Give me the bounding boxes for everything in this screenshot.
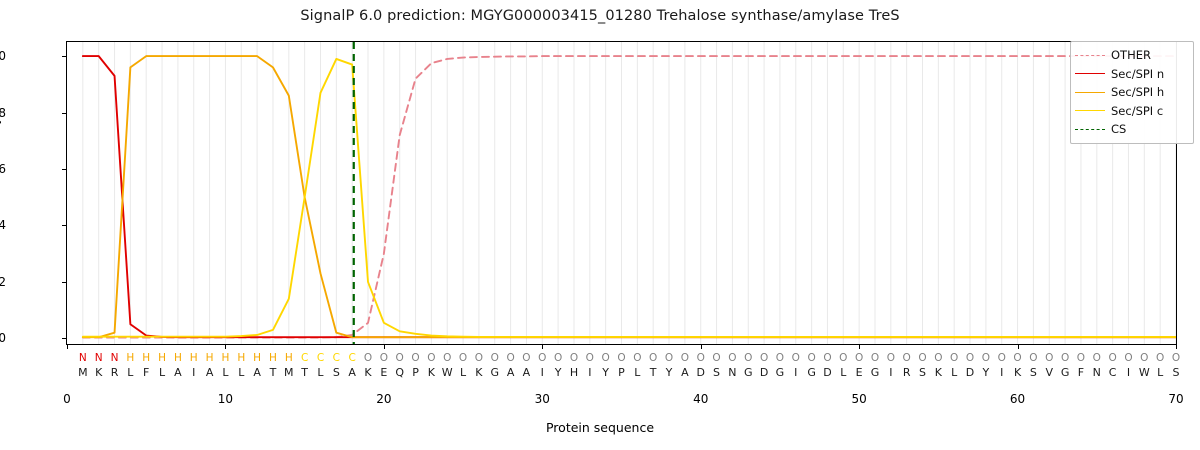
sequence-residue: L [946, 366, 962, 380]
region-label: O [930, 351, 946, 365]
region-label: O [835, 351, 851, 365]
sequence-residue: R [107, 366, 123, 380]
region-label: O [645, 351, 661, 365]
sequence-residue: G [1057, 366, 1073, 380]
sequence-residue: D [962, 366, 978, 380]
sequence-residue: L [629, 366, 645, 380]
region-label: O [661, 351, 677, 365]
region-label: O [376, 351, 392, 365]
legend-item-other: OTHER [1075, 46, 1188, 65]
region-label: O [423, 351, 439, 365]
sequence-residue: M [281, 366, 297, 380]
region-label: O [360, 351, 376, 365]
region-label: O [724, 351, 740, 365]
region-label: O [455, 351, 471, 365]
sequence-residue: D [693, 366, 709, 380]
sequence-residue: S [1168, 366, 1184, 380]
region-label: O [1089, 351, 1105, 365]
region-label: O [915, 351, 931, 365]
sequence-residue: I [1120, 366, 1136, 380]
region-label: O [677, 351, 693, 365]
sequence-residue: L [1152, 366, 1168, 380]
region-label: O [534, 351, 550, 365]
region-label: O [756, 351, 772, 365]
region-label: O [392, 351, 408, 365]
sequence-residue: H [566, 366, 582, 380]
plot-area [66, 41, 1177, 345]
region-label: H [217, 351, 233, 365]
sequence-residue: G [487, 366, 503, 380]
sequence-residue: A [344, 366, 360, 380]
plot-canvas [67, 42, 1176, 344]
region-label: H [281, 351, 297, 365]
sequence-residue: T [297, 366, 313, 380]
region-label: H [138, 351, 154, 365]
region-label: C [328, 351, 344, 365]
x-tick-mark [859, 345, 860, 349]
legend-swatch [1075, 92, 1105, 93]
region-label: C [312, 351, 328, 365]
region-label: O [471, 351, 487, 365]
signalp-prediction-figure: SignalP 6.0 prediction: MGYG000003415_01… [0, 0, 1200, 450]
sequence-residue: F [1073, 366, 1089, 380]
region-label: O [487, 351, 503, 365]
sequence-residue: P [408, 366, 424, 380]
legend-swatch [1075, 55, 1105, 56]
x-tick-mark [67, 345, 68, 349]
sequence-residue: K [423, 366, 439, 380]
x-tick-label: 30 [512, 392, 572, 406]
y-tick-label: 0.8 [0, 106, 6, 120]
legend-label: Sec/SPI n [1111, 67, 1164, 81]
sequence-residue: K [471, 366, 487, 380]
region-label: O [1073, 351, 1089, 365]
legend-label: Sec/SPI h [1111, 85, 1164, 99]
y-tick-label: 0.4 [0, 218, 6, 232]
sequence-residue: S [328, 366, 344, 380]
sequence-residue: A [503, 366, 519, 380]
region-label: H [233, 351, 249, 365]
region-label: O [1136, 351, 1152, 365]
region-label: N [75, 351, 91, 365]
sequence-residue: Y [978, 366, 994, 380]
x-tick-label: 60 [988, 392, 1048, 406]
region-label: O [1010, 351, 1026, 365]
region-label: O [503, 351, 519, 365]
region-label: O [518, 351, 534, 365]
sequence-residue: I [994, 366, 1010, 380]
sequence-residue: A [677, 366, 693, 380]
region-label: O [408, 351, 424, 365]
sequence-residue: I [883, 366, 899, 380]
sequence-residue: L [835, 366, 851, 380]
sequence-residue: P [614, 366, 630, 380]
y-tick-label: 0.0 [0, 331, 6, 345]
series-line-sec-spi-h [83, 56, 1176, 337]
x-tick-label: 40 [671, 392, 731, 406]
x-axis-label: Protein sequence [0, 420, 1200, 435]
region-label: N [91, 351, 107, 365]
region-label: H [154, 351, 170, 365]
sequence-residue: S [915, 366, 931, 380]
region-label: O [439, 351, 455, 365]
sequence-residue: A [518, 366, 534, 380]
sequence-residue: T [265, 366, 281, 380]
sequence-residue: A [249, 366, 265, 380]
sequence-residue: N [724, 366, 740, 380]
sequence-residue: K [91, 366, 107, 380]
legend-item-cs: CS [1075, 120, 1188, 139]
x-tick-label: 20 [354, 392, 414, 406]
x-tick-label: 70 [1146, 392, 1200, 406]
region-label: O [788, 351, 804, 365]
region-label: O [1168, 351, 1184, 365]
region-label: N [107, 351, 123, 365]
x-tick-mark [1018, 345, 1019, 349]
legend-item-sec-spi-n: Sec/SPI n [1075, 65, 1188, 84]
region-label: O [804, 351, 820, 365]
x-tick-mark [1176, 345, 1177, 349]
region-label: H [265, 351, 281, 365]
region-label: O [1152, 351, 1168, 365]
sequence-residue: C [1105, 366, 1121, 380]
sequence-residue: I [788, 366, 804, 380]
region-label: O [1057, 351, 1073, 365]
region-label: O [819, 351, 835, 365]
region-label: O [994, 351, 1010, 365]
region-label: O [978, 351, 994, 365]
y-tick-label: 0.6 [0, 162, 6, 176]
region-label: C [297, 351, 313, 365]
sequence-residue: W [439, 366, 455, 380]
sequence-residue: Y [550, 366, 566, 380]
legend-swatch [1075, 129, 1105, 130]
x-tick-label: 0 [37, 392, 97, 406]
region-label: O [709, 351, 725, 365]
region-label: O [772, 351, 788, 365]
y-tick-label: 1.0 [0, 49, 6, 63]
sequence-residue: K [1010, 366, 1026, 380]
sequence-residue: V [1041, 366, 1057, 380]
sequence-residue: Q [392, 366, 408, 380]
region-label: O [693, 351, 709, 365]
sequence-residue: D [819, 366, 835, 380]
legend-label: Sec/SPI c [1111, 104, 1163, 118]
chart-title: SignalP 6.0 prediction: MGYG000003415_01… [0, 8, 1200, 24]
sequence-residue: M [75, 366, 91, 380]
sequence-residue: W [1136, 366, 1152, 380]
sequence-residue: L [312, 366, 328, 380]
sequence-residue: R [899, 366, 915, 380]
sequence-residue: T [645, 366, 661, 380]
x-tick-mark [384, 345, 385, 349]
region-label: H [249, 351, 265, 365]
series-line-sec-spi-n [83, 56, 1176, 337]
legend-swatch [1075, 73, 1105, 74]
region-label: O [883, 351, 899, 365]
sequence-residue: G [867, 366, 883, 380]
x-tick-mark [225, 345, 226, 349]
x-tick-mark [542, 345, 543, 349]
sequence-residue: I [534, 366, 550, 380]
y-tick-label: 0.2 [0, 275, 6, 289]
region-label: O [740, 351, 756, 365]
region-label: H [170, 351, 186, 365]
region-label: O [867, 351, 883, 365]
region-label: O [598, 351, 614, 365]
sequence-residue: A [202, 366, 218, 380]
series-line-other [83, 56, 1176, 337]
sequence-residue: I [186, 366, 202, 380]
region-label: C [344, 351, 360, 365]
region-label: O [1025, 351, 1041, 365]
sequence-residue: S [709, 366, 725, 380]
sequence-residue: S [1025, 366, 1041, 380]
sequence-residue: N [1089, 366, 1105, 380]
x-tick-label: 10 [195, 392, 255, 406]
sequence-residue: L [122, 366, 138, 380]
region-label: O [962, 351, 978, 365]
sequence-residue: E [851, 366, 867, 380]
legend-label: CS [1111, 122, 1126, 136]
legend-swatch [1075, 110, 1105, 111]
region-label: O [1105, 351, 1121, 365]
sequence-residue: A [170, 366, 186, 380]
legend-label: OTHER [1111, 48, 1151, 62]
region-label: O [851, 351, 867, 365]
sequence-residue: Y [661, 366, 677, 380]
sequence-residue: G [804, 366, 820, 380]
sequence-residue: I [582, 366, 598, 380]
x-tick-mark [701, 345, 702, 349]
legend-item-sec-spi-c: Sec/SPI c [1075, 102, 1188, 121]
region-label: O [899, 351, 915, 365]
region-label: O [566, 351, 582, 365]
sequence-residue: L [217, 366, 233, 380]
region-label: O [582, 351, 598, 365]
x-tick-label: 50 [829, 392, 889, 406]
region-label: H [202, 351, 218, 365]
sequence-residue: D [756, 366, 772, 380]
region-label: H [186, 351, 202, 365]
sequence-residue: F [138, 366, 154, 380]
sequence-residue: E [376, 366, 392, 380]
sequence-residue: G [740, 366, 756, 380]
series-line-sec-spi-c [83, 59, 1176, 337]
region-label: O [946, 351, 962, 365]
sequence-residue: K [360, 366, 376, 380]
region-label: H [122, 351, 138, 365]
region-label: O [629, 351, 645, 365]
region-label: O [1041, 351, 1057, 365]
region-label: O [550, 351, 566, 365]
sequence-residue: L [154, 366, 170, 380]
sequence-residue: L [455, 366, 471, 380]
region-label: O [614, 351, 630, 365]
sequence-residue: K [930, 366, 946, 380]
legend-item-sec-spi-h: Sec/SPI h [1075, 83, 1188, 102]
sequence-residue: G [772, 366, 788, 380]
sequence-residue: Y [598, 366, 614, 380]
region-label: O [1120, 351, 1136, 365]
chart-legend: OTHERSec/SPI nSec/SPI hSec/SPI cCS [1070, 41, 1194, 144]
sequence-residue: L [233, 366, 249, 380]
